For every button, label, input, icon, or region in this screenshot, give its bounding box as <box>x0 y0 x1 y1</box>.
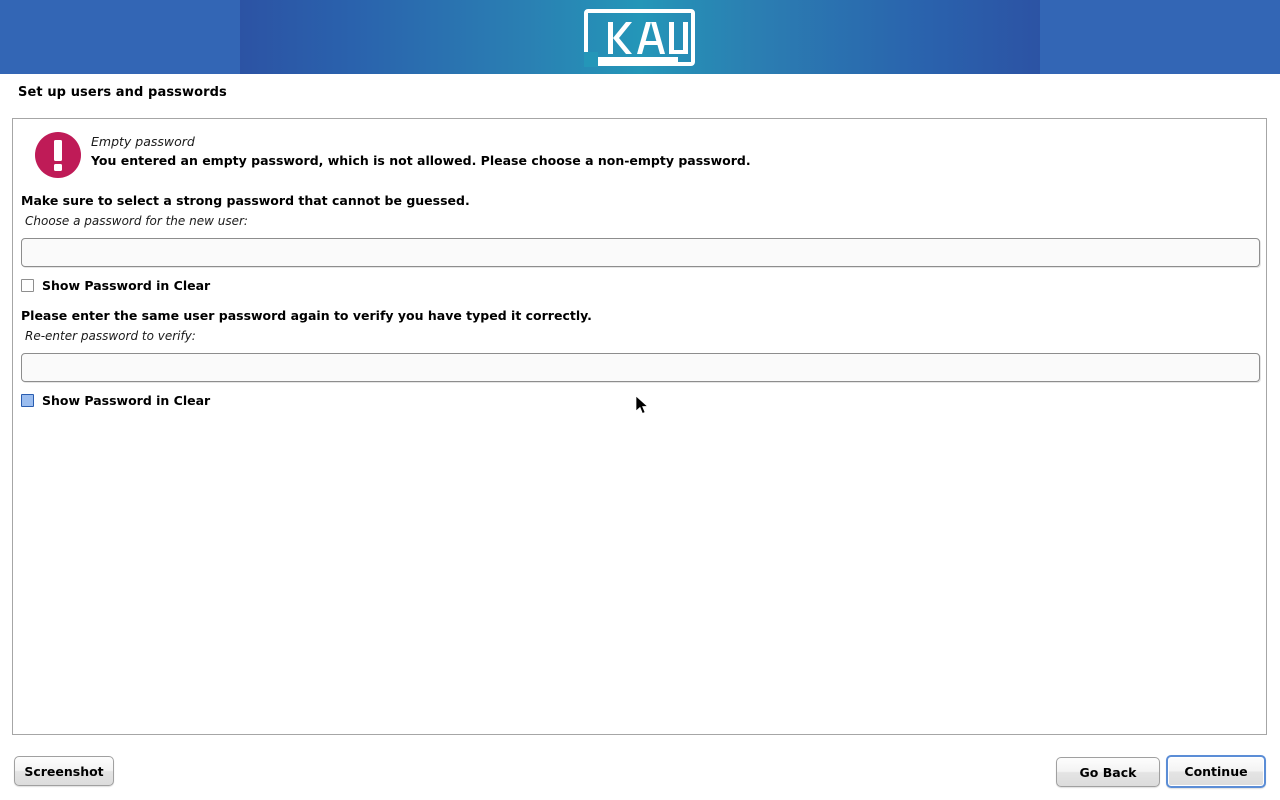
continue-button[interactable]: Continue <box>1166 755 1266 788</box>
go-back-button[interactable]: Go Back <box>1056 757 1160 787</box>
verify-password-heading: Please enter the same user password agai… <box>21 308 592 323</box>
error-exclamation-icon <box>34 131 82 179</box>
screenshot-button[interactable]: Screenshot <box>14 756 114 786</box>
show-password-checkbox-1[interactable]: Show Password in Clear <box>21 276 210 294</box>
show-password-label-2: Show Password in Clear <box>42 393 210 408</box>
verify-field-label: Re-enter password to verify: <box>25 329 196 343</box>
error-title: Empty password <box>91 134 195 149</box>
checkbox-box[interactable] <box>21 394 34 407</box>
checkbox-box[interactable] <box>21 279 34 292</box>
installer-screen: Set up users and passwords Empty passwor… <box>0 0 1280 800</box>
password-strength-heading: Make sure to select a strong password th… <box>21 193 470 208</box>
page-title: Set up users and passwords <box>18 85 227 100</box>
error-description: You entered an empty password, which is … <box>91 153 751 168</box>
verify-password-input[interactable] <box>21 353 1260 382</box>
error-message-block: Empty password You entered an empty pass… <box>21 126 1251 188</box>
main-content-panel: Empty password You entered an empty pass… <box>12 118 1267 735</box>
show-password-label-1: Show Password in Clear <box>42 278 210 293</box>
password-input[interactable] <box>21 238 1260 267</box>
kali-header-banner <box>0 0 1280 74</box>
kali-logo-icon <box>583 8 696 67</box>
show-password-checkbox-2[interactable]: Show Password in Clear <box>21 391 210 409</box>
password-field-label: Choose a password for the new user: <box>25 214 248 228</box>
